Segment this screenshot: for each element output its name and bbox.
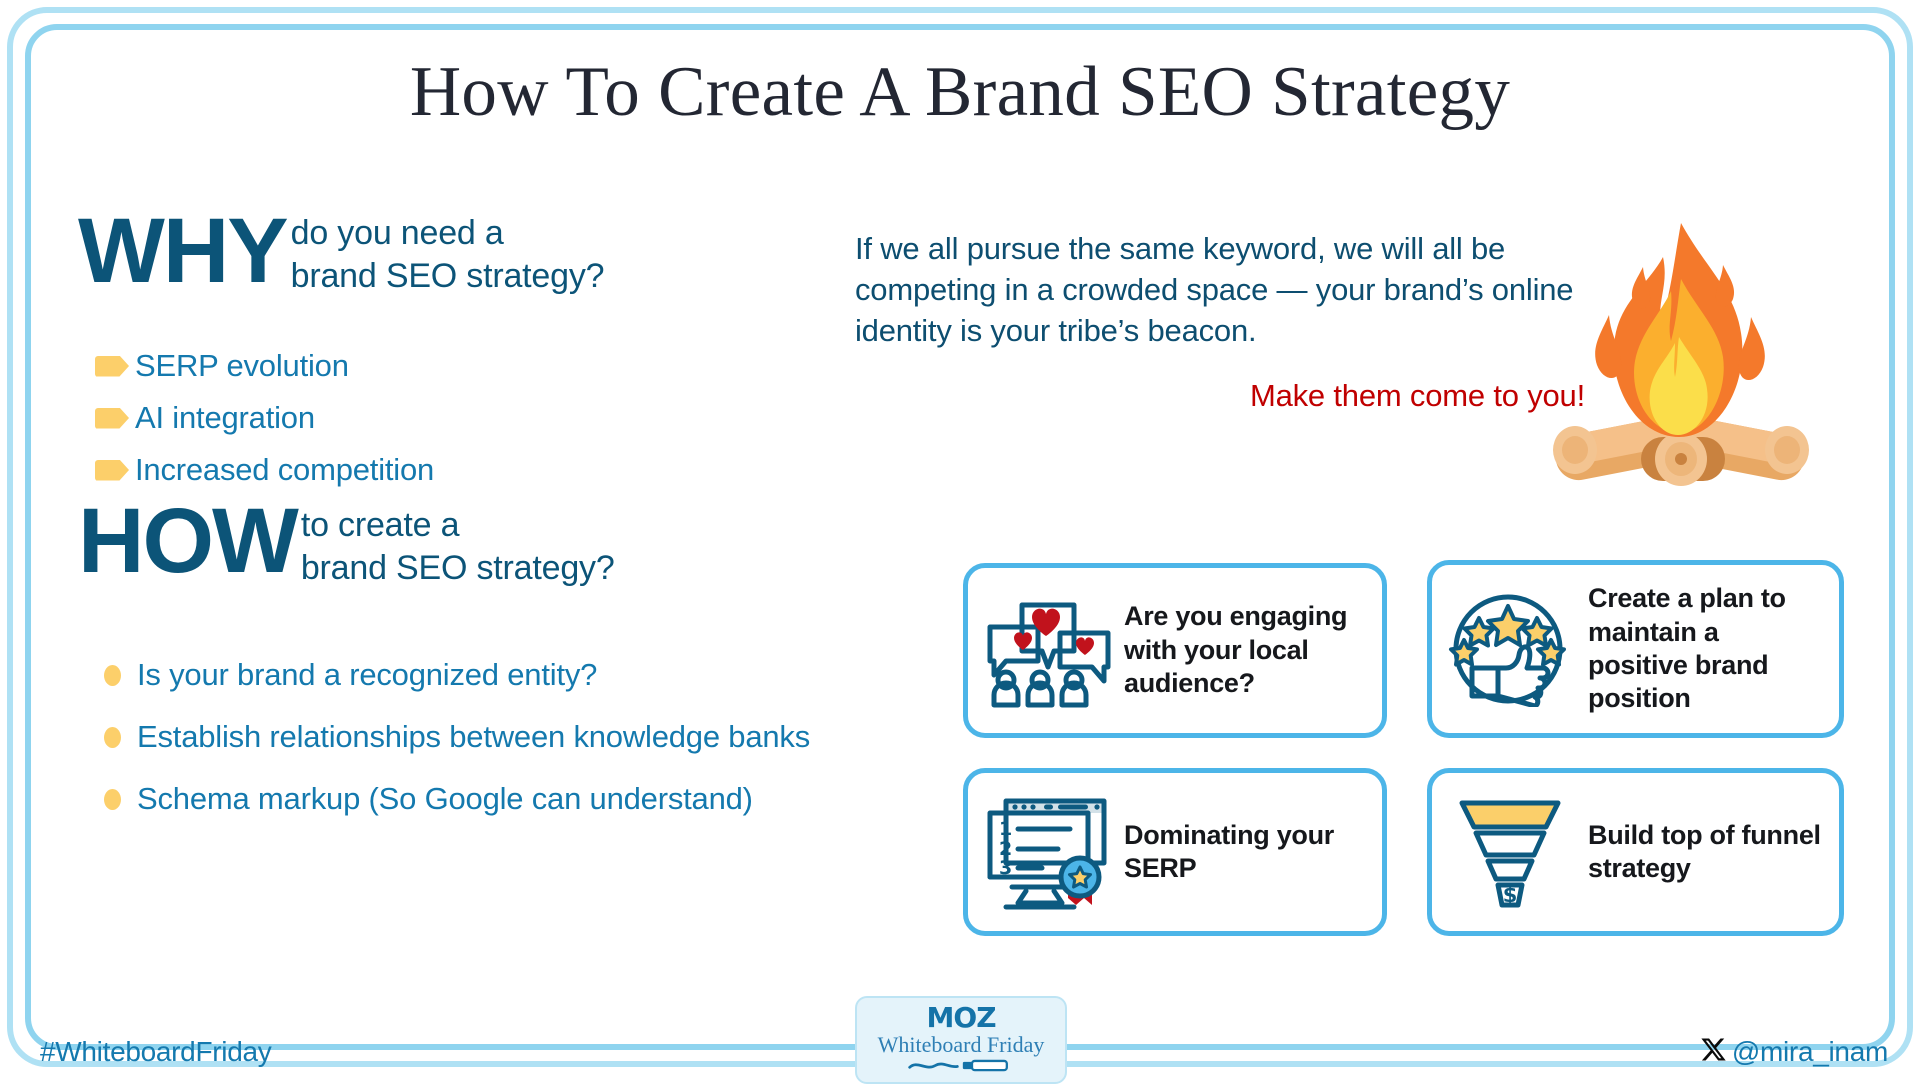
footer-hashtag: #WhiteboardFriday [40, 1036, 271, 1068]
serp-ranking-monitor-icon: 123 [984, 795, 1114, 910]
how-list-item: Is your brand a recognized entity? [104, 644, 810, 706]
flag-bullet-icon [95, 460, 129, 481]
moz-tagline: Whiteboard Friday [878, 1033, 1045, 1057]
how-list-item: Schema markup (So Google can understand) [104, 768, 810, 830]
whiteboard-marker-icon [906, 1059, 1016, 1077]
card-top-of-funnel-strategy[interactable]: $ Build top of funnel strategy [1427, 768, 1844, 936]
sales-funnel-icon: $ [1448, 795, 1578, 910]
page-title: How To Create A Brand SEO Strategy [0, 52, 1920, 133]
moz-whiteboard-friday-badge: MOZ Whiteboard Friday [855, 996, 1067, 1084]
why-item-label: Increased competition [135, 452, 434, 488]
moz-letter-z: Z [976, 1001, 995, 1034]
how-item-label: Is your brand a recognized entity? [137, 657, 597, 693]
why-subtitle: do you need abrand SEO strategy? [287, 208, 605, 298]
quote-call-to-action: Make them come to you! [855, 378, 1585, 414]
card-label: Build top of funnel strategy [1588, 819, 1823, 886]
card-label: Are you engaging with your local audienc… [1124, 600, 1366, 700]
how-list-item: Establish relationships between knowledg… [104, 706, 810, 768]
how-big-word: HOW [78, 498, 297, 584]
dot-bullet-icon [104, 727, 121, 748]
how-subtitle-line-1: to create a [301, 506, 459, 544]
svg-text:$: $ [1503, 883, 1518, 907]
moz-letter-o: O [953, 1004, 976, 1032]
how-subtitle: to create abrand SEO strategy? [297, 498, 615, 590]
flag-bullet-icon [95, 408, 129, 429]
why-item-label: SERP evolution [135, 348, 349, 384]
dot-bullet-icon [104, 665, 121, 686]
why-list-item: SERP evolution [95, 340, 434, 392]
how-item-label: Establish relationships between knowledg… [137, 719, 810, 755]
campfire-illustration [1545, 205, 1815, 495]
why-heading-block: WHYdo you need abrand SEO strategy? [78, 208, 738, 298]
why-big-word: WHY [78, 208, 287, 294]
dot-bullet-icon [104, 789, 121, 810]
flag-bullet-icon [95, 356, 129, 377]
card-label: Create a plan to maintain a positive bra… [1588, 582, 1823, 716]
how-item-label: Schema markup (So Google can understand) [137, 781, 753, 817]
card-dominating-serp[interactable]: 123 Dominating your SERP [963, 768, 1387, 936]
footer-social-handle[interactable]: @mira_inam [1700, 1036, 1888, 1068]
why-subtitle-line-2: brand SEO strategy? [291, 257, 605, 295]
why-list-item: AI integration [95, 392, 434, 444]
x-logo-icon [1700, 1036, 1727, 1068]
moz-wordmark: MOZ [927, 1004, 996, 1032]
thumbs-up-stars-icon [1448, 592, 1578, 707]
speech-bubbles-hearts-people-icon [984, 593, 1114, 708]
quote-text: If we all pursue the same keyword, we wi… [855, 228, 1585, 352]
why-bullet-list: SERP evolution AI integration Increased … [95, 340, 434, 496]
why-subtitle-line-1: do you need a [291, 214, 504, 252]
card-engaging-local-audience[interactable]: Are you engaging with your local audienc… [963, 563, 1387, 738]
card-maintain-positive-brand[interactable]: Create a plan to maintain a positive bra… [1427, 560, 1844, 738]
moz-letter-m: M [927, 1001, 954, 1034]
how-bullet-list: Is your brand a recognized entity? Estab… [104, 644, 810, 830]
why-item-label: AI integration [135, 400, 315, 436]
footer-handle-text: @mira_inam [1732, 1036, 1888, 1068]
svg-text:1: 1 [999, 818, 1012, 840]
card-label: Dominating your SERP [1124, 819, 1366, 886]
how-heading-block: HOWto create abrand SEO strategy? [78, 498, 858, 590]
why-list-item: Increased competition [95, 444, 434, 496]
how-subtitle-line-2: brand SEO strategy? [301, 549, 615, 587]
